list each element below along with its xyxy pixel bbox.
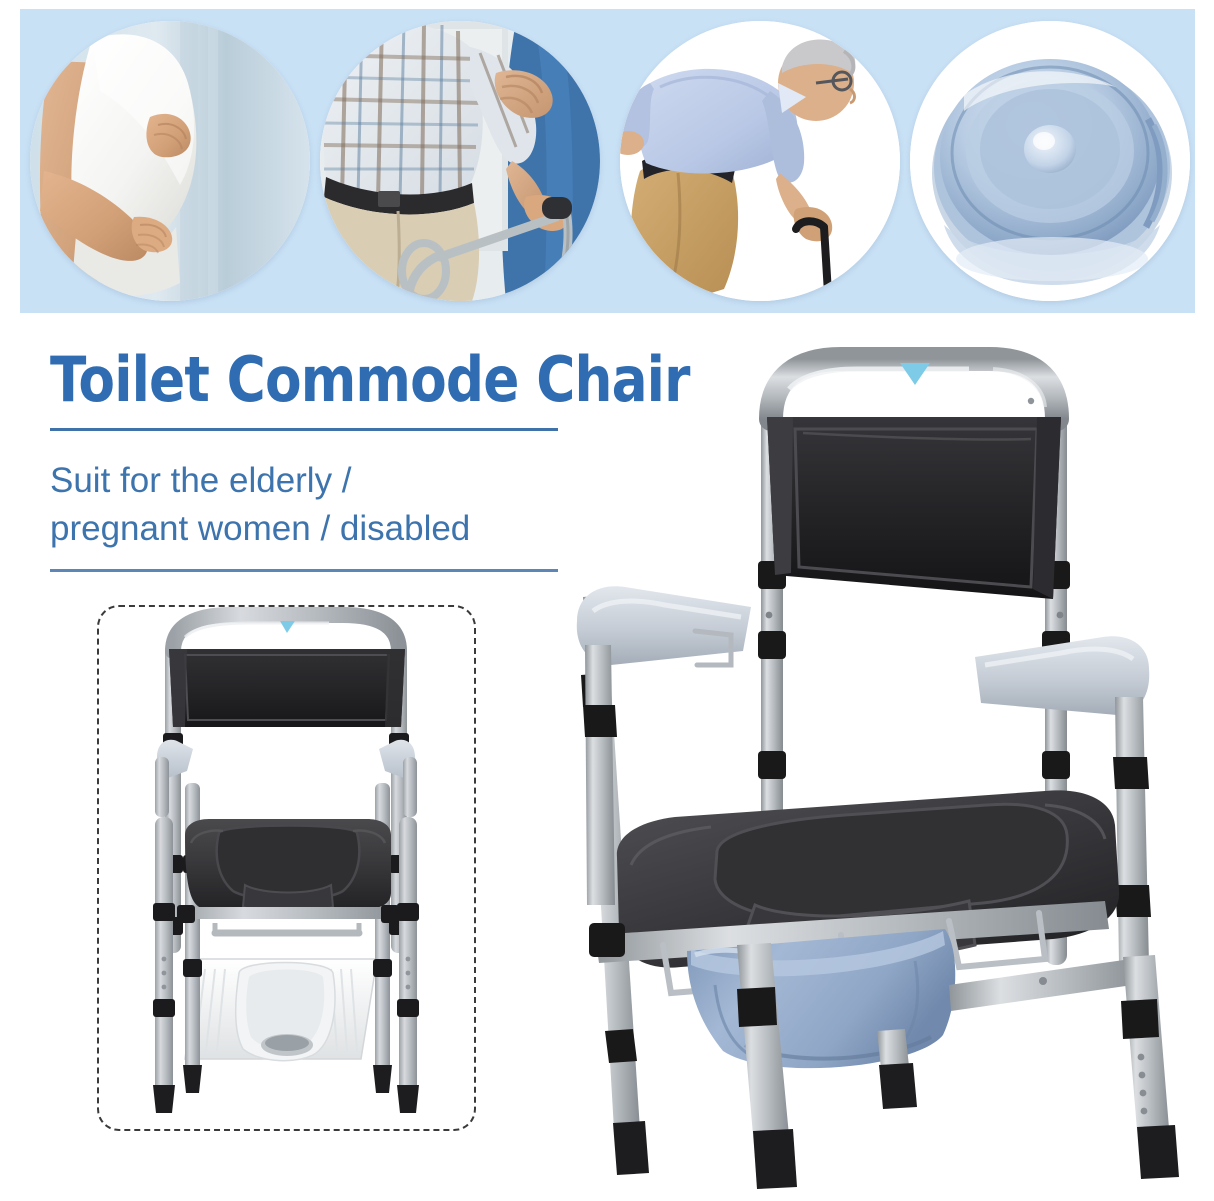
top-handle-bar xyxy=(173,615,399,651)
commode-bucket-photo xyxy=(910,21,1190,301)
page-title: Toilet Commode Chair xyxy=(50,342,618,418)
elderly-man-with-walker-photo xyxy=(320,21,600,301)
backrest-pad xyxy=(169,649,405,727)
lifestyle-banner xyxy=(20,9,1195,313)
banner-circle-row xyxy=(20,9,1195,313)
seat-cushion xyxy=(185,819,391,913)
brand-triangle-icon xyxy=(900,363,930,385)
squat-toilet-graphic xyxy=(185,959,377,1061)
subtitle-divider xyxy=(50,569,558,572)
chair-over-squat-toilet-inset xyxy=(97,605,476,1131)
backrest-pad xyxy=(767,417,1061,599)
pregnant-woman-photo xyxy=(30,21,310,301)
front-leg-right xyxy=(1121,955,1179,1179)
commode-bucket xyxy=(687,929,955,1068)
seat-frame-rails xyxy=(177,905,399,933)
title-divider xyxy=(50,428,558,431)
brand-triangle-icon xyxy=(280,621,295,633)
elderly-man-with-cane-photo xyxy=(620,21,900,301)
top-handle-bar xyxy=(771,359,1057,419)
toilet-commode-chair-main-photo xyxy=(545,345,1205,1190)
